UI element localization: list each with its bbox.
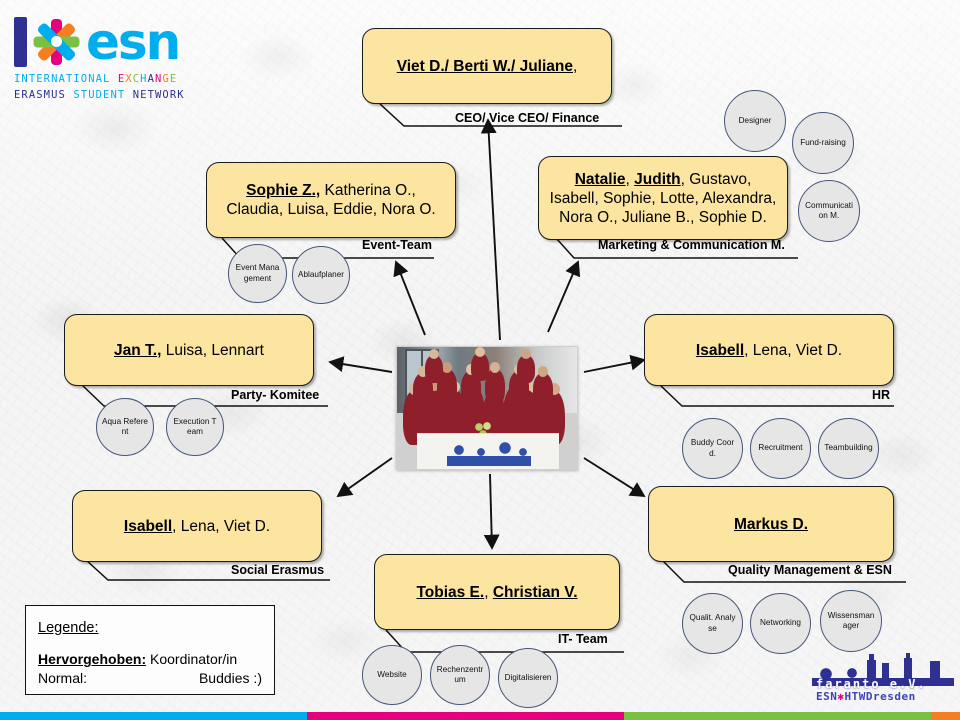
circle-buddy-coord[interactable]: Buddy Coord. <box>682 418 743 479</box>
esn-logo: esn INTERNATIONAL EXCHANGE ERASMUS STUDE… <box>14 14 214 106</box>
caption-ceo: CEO/ Vice CEO/ Finance <box>455 111 599 125</box>
color-bar-green <box>624 712 931 720</box>
circle-ablaufplaner[interactable]: Ablaufplaner <box>292 246 350 304</box>
node-marketing[interactable]: Natalie, Judith, Gustavo, Isabell, Sophi… <box>538 156 788 240</box>
legend-normal-value: Buddies :) <box>199 669 262 688</box>
caption-social-erasmus: Social Erasmus <box>231 563 324 577</box>
node-social-erasmus-text: Isabell, Lena, Viet D. <box>124 517 270 536</box>
team-photo <box>396 346 578 470</box>
color-bar-magenta <box>307 712 624 720</box>
esn-tagline-line2: ERASMUS STUDENT NETWORK <box>14 88 214 102</box>
node-it-team[interactable]: Tobias E., Christian V. <box>374 554 620 630</box>
node-event-team[interactable]: Sophie Z., Katherina O., Claudia, Luisa,… <box>206 162 456 238</box>
circle-qualit-analyse[interactable]: Qualit. Analyse <box>682 593 743 654</box>
circle-designer[interactable]: Designer <box>724 90 786 152</box>
faranto-esn-text: ESN <box>816 690 837 703</box>
slide-canvas: esn INTERNATIONAL EXCHANGE ERASMUS STUDE… <box>0 0 960 720</box>
faranto-htw-text: HTWDresden <box>845 690 916 703</box>
circle-networking[interactable]: Networking <box>750 593 811 654</box>
legend-normal-label: Normal: <box>38 669 87 688</box>
circle-wissensmanager[interactable]: Wissensmanager <box>820 590 882 652</box>
node-event-team-text: Sophie Z., Katherina O., Claudia, Luisa,… <box>216 181 446 219</box>
node-ceo-text: Viet D./ Berti W./ Juliane, <box>397 57 578 76</box>
node-it-team-text: Tobias E., Christian V. <box>416 583 577 602</box>
faranto-star-icon: ✱ <box>837 690 844 703</box>
color-bar-cyan <box>0 712 307 720</box>
caption-marketing: Marketing & Communication M. <box>598 238 785 252</box>
circle-fundraising[interactable]: Fund-raising <box>792 112 854 174</box>
esn-color-bar <box>0 712 960 720</box>
faranto-name: faranto e.V. <box>816 677 927 691</box>
caption-hr: HR <box>872 388 890 402</box>
caption-quality-management: Quality Management & ESN <box>728 563 892 577</box>
node-party-komitee[interactable]: Jan T., Luisa, Lennart <box>64 314 314 386</box>
node-party-komitee-text: Jan T., Luisa, Lennart <box>114 341 264 360</box>
legend-box: Legende: Hervorgehoben: Koordinator/in N… <box>25 605 275 695</box>
legend-title: Legende: <box>38 620 262 636</box>
circle-rechenzentrum[interactable]: Rechenzentrum <box>430 645 490 705</box>
circle-communication-manager[interactable]: Communication M. <box>798 180 860 242</box>
legend-bold-value: Koordinator/in <box>146 651 237 667</box>
circle-teambuilding[interactable]: Teambuilding <box>818 418 879 479</box>
caption-party-komitee: Party- Komitee <box>231 388 319 402</box>
caption-it-team: IT- Team <box>558 632 608 646</box>
node-ceo[interactable]: Viet D./ Berti W./ Juliane, <box>362 28 612 104</box>
circle-event-management[interactable]: Event Management <box>228 244 287 303</box>
caption-event-team: Event-Team <box>362 238 432 252</box>
faranto-subtitle: ESN✱HTWDresden <box>816 690 916 703</box>
photo-banner-art <box>447 440 531 466</box>
esn-tagline-line1: INTERNATIONAL EXCHANGE <box>14 72 214 86</box>
node-quality-management[interactable]: Markus D. <box>648 486 894 562</box>
node-marketing-text: Natalie, Judith, Gustavo, Isabell, Sophi… <box>548 170 778 227</box>
node-quality-management-text: Markus D. <box>734 515 808 534</box>
legend-row-buddies: Normal: Buddies :) <box>38 669 262 688</box>
esn-logo-mark: esn <box>14 14 214 70</box>
faranto-logo: faranto e.V. ESN✱HTWDresden <box>812 660 954 704</box>
circle-website[interactable]: Website <box>362 645 422 705</box>
node-social-erasmus[interactable]: Isabell, Lena, Viet D. <box>72 490 322 562</box>
legend-row-coordinator: Hervorgehoben: Koordinator/in <box>38 650 262 669</box>
circle-aqua-referent[interactable]: Aqua Referent <box>96 398 154 456</box>
photo-banner <box>417 433 559 470</box>
circle-digitalisieren[interactable]: Digitalisieren <box>498 648 558 708</box>
circle-execution-team[interactable]: Execution Team <box>166 398 224 456</box>
circle-recruitment[interactable]: Recruitment <box>750 418 811 479</box>
esn-wordmark: esn <box>86 17 179 67</box>
legend-bold-label: Hervorgehoben: <box>38 651 146 667</box>
color-bar-orange <box>931 712 960 720</box>
esn-logo-bar-icon <box>14 17 27 67</box>
node-hr[interactable]: Isabell, Lena, Viet D. <box>644 314 894 386</box>
esn-star-icon <box>29 15 83 69</box>
node-hr-text: Isabell, Lena, Viet D. <box>696 341 842 360</box>
